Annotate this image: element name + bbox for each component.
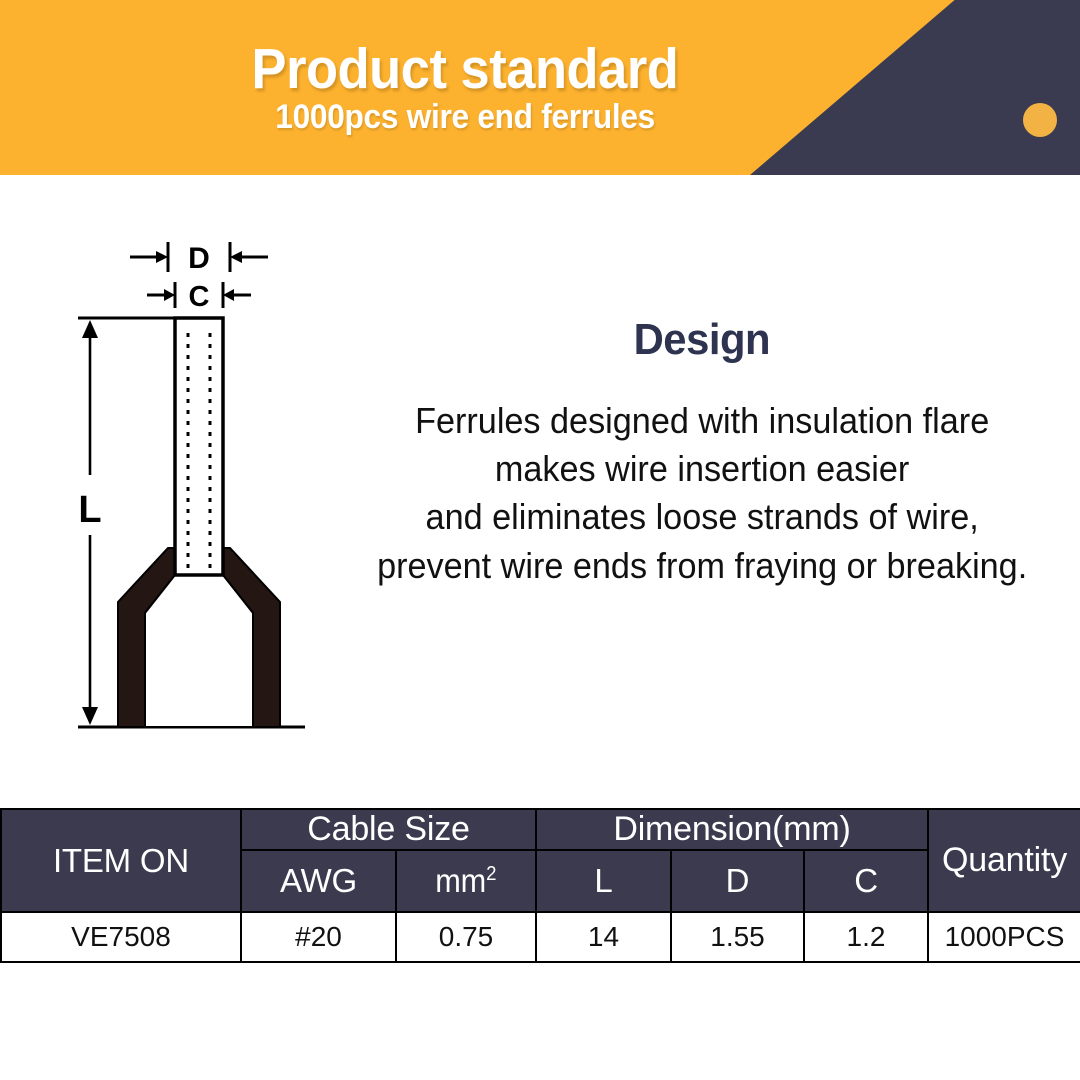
dimension-d-label: D	[188, 242, 210, 275]
banner-accent-dot-icon	[1023, 103, 1057, 137]
page-title: Product standard	[252, 40, 679, 98]
spec-table-container: ITEM ON Cable Size Dimension(mm) Quantit…	[0, 808, 1080, 963]
specification-table: ITEM ON Cable Size Dimension(mm) Quantit…	[0, 808, 1080, 963]
header-dim-l: L	[536, 850, 671, 912]
cell-dim-c: 1.2	[804, 912, 928, 962]
ferrule-cross-section-svg: D C	[55, 230, 355, 750]
cell-dim-l: 14	[536, 912, 671, 962]
header-banner: Product standard 1000pcs wire end ferrul…	[0, 0, 1080, 175]
design-line-4: prevent wire ends from fraying or breaki…	[377, 542, 1027, 590]
header-cable-size: Cable Size	[241, 809, 536, 850]
header-mm2: mm2	[396, 850, 536, 912]
ferrule-metal-barrel	[175, 318, 223, 575]
header-mm2-base: mm	[436, 862, 487, 899]
product-standard-page: Product standard 1000pcs wire end ferrul…	[0, 0, 1080, 1080]
header-dimension: Dimension(mm)	[536, 809, 928, 850]
content-section: D C	[0, 175, 1080, 805]
table-header-row-1: ITEM ON Cable Size Dimension(mm) Quantit…	[1, 809, 1080, 850]
cell-mm2: 0.75	[396, 912, 536, 962]
header-quantity: Quantity	[928, 809, 1080, 912]
banner-text-group: Product standard 1000pcs wire end ferrul…	[0, 0, 930, 175]
page-subtitle: 1000pcs wire end ferrules	[275, 100, 655, 136]
design-line-2: makes wire insertion easier	[495, 445, 909, 493]
design-heading: Design	[634, 315, 771, 365]
dimension-l-label: L	[78, 489, 101, 531]
cell-awg: #20	[241, 912, 396, 962]
header-item-on: ITEM ON	[1, 809, 241, 912]
dimension-c-label: C	[189, 281, 210, 313]
header-awg: AWG	[241, 850, 396, 912]
header-dim-d: D	[671, 850, 804, 912]
cell-quantity: 1000PCS	[928, 912, 1080, 962]
cell-item-on: VE7508	[1, 912, 241, 962]
design-line-3: and eliminates loose strands of wire,	[425, 493, 978, 541]
header-mm2-superscript: 2	[486, 863, 496, 885]
design-text-block: Design Ferrules designed with insulation…	[352, 315, 1052, 590]
cell-dim-d: 1.55	[671, 912, 804, 962]
table-row: VE7508 #20 0.75 14 1.55 1.2 1000PCS	[1, 912, 1080, 962]
design-line-1: Ferrules designed with insulation flare	[415, 397, 989, 445]
header-dim-c: C	[804, 850, 928, 912]
ferrule-diagram: D C	[55, 230, 355, 750]
